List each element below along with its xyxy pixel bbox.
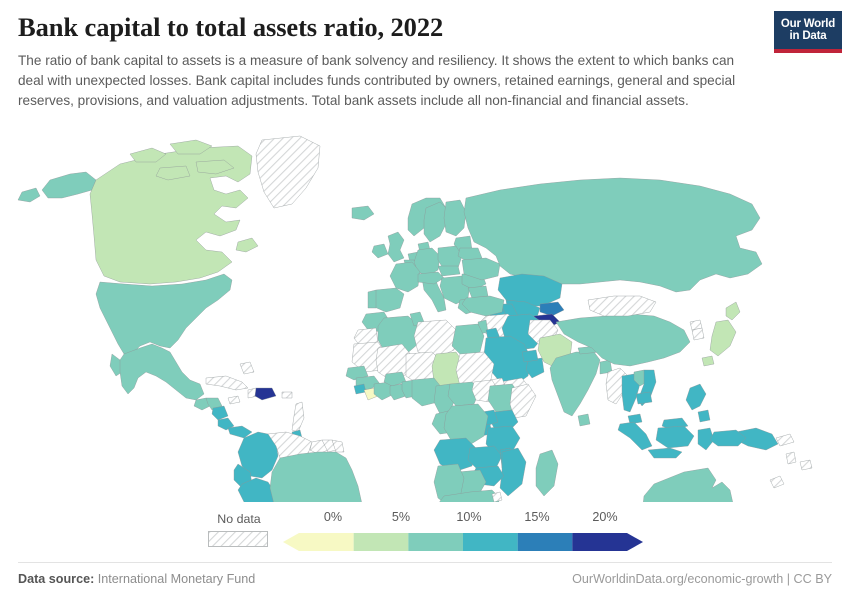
- no-data-hatch-icon: [209, 532, 267, 546]
- country-mozambique[interactable]: [500, 448, 526, 496]
- owid-logo-line2: in Data: [790, 30, 827, 42]
- legend-bin-1[interactable]: [354, 533, 409, 551]
- country-libya[interactable]: [414, 320, 456, 358]
- legend-no-data-label: No data: [208, 513, 270, 525]
- country-lesser-antilles[interactable]: [292, 402, 304, 432]
- legend-bin-2[interactable]: [408, 533, 463, 551]
- country-new-caledonia[interactable]: [770, 476, 784, 488]
- country-vanuatu[interactable]: [786, 452, 796, 464]
- legend-bin-0[interactable]: [283, 533, 354, 551]
- country-borneo[interactable]: [656, 426, 694, 448]
- country-uae-qatar[interactable]: [522, 350, 538, 362]
- country-australia[interactable]: [642, 468, 734, 502]
- legend-no-data-swatch[interactable]: [208, 531, 268, 547]
- country-fiji[interactable]: [800, 460, 812, 470]
- map-legend[interactable]: No data 0% 5% 10% 15% 20%: [0, 505, 850, 555]
- legend-bin-3[interactable]: [463, 533, 518, 551]
- country-greenland[interactable]: [256, 136, 320, 208]
- country-sierra-leone[interactable]: [354, 384, 366, 394]
- chart-footer: Data source: International Monetary Fund…: [18, 562, 832, 586]
- country-cuba[interactable]: [206, 376, 248, 390]
- legend-bin-4[interactable]: [518, 533, 573, 551]
- country-mongolia[interactable]: [588, 296, 656, 316]
- country-bulgaria[interactable]: [468, 286, 488, 298]
- country-somalia[interactable]: [510, 384, 536, 418]
- legend-color-bar[interactable]: [283, 533, 643, 551]
- country-japan[interactable]: [702, 302, 740, 366]
- country-philippines[interactable]: [686, 384, 710, 422]
- legend-no-data-group[interactable]: No data: [208, 513, 270, 547]
- country-united-kingdom[interactable]: [388, 232, 404, 262]
- data-source-label: Data source:: [18, 572, 94, 586]
- country-sri-lanka[interactable]: [578, 414, 590, 426]
- data-source-value: International Monetary Fund: [98, 572, 256, 586]
- country-puerto-rico[interactable]: [282, 392, 292, 398]
- country-canada-newfoundland[interactable]: [236, 238, 258, 252]
- legend-bin-5[interactable]: [572, 533, 643, 551]
- country-mexico[interactable]: [120, 344, 204, 400]
- attribution-link[interactable]: OurWorldinData.org/economic-growth | CC …: [572, 572, 832, 586]
- country-switzerland-austria[interactable]: [418, 272, 444, 284]
- owid-logo[interactable]: Our World in Data: [774, 11, 842, 53]
- country-brazil[interactable]: [270, 452, 362, 502]
- legend-tick-15: 15%: [524, 511, 549, 524]
- country-madagascar[interactable]: [536, 450, 558, 496]
- country-czechia-slovakia[interactable]: [438, 266, 460, 276]
- legend-tick-5: 5%: [392, 511, 410, 524]
- country-alaska[interactable]: [18, 172, 96, 202]
- country-russia[interactable]: [464, 178, 762, 292]
- country-shapes[interactable]: [18, 136, 812, 502]
- country-portugal[interactable]: [368, 290, 376, 308]
- country-bahamas[interactable]: [240, 362, 254, 374]
- country-dominican-republic[interactable]: [255, 388, 276, 400]
- legend-tick-10: 10%: [456, 511, 481, 524]
- country-cambodia[interactable]: [636, 392, 652, 404]
- country-sumatra[interactable]: [618, 422, 652, 450]
- country-india[interactable]: [550, 352, 600, 416]
- legend-tick-20: 20%: [592, 511, 617, 524]
- data-source: Data source: International Monetary Fund: [18, 572, 255, 586]
- country-egypt[interactable]: [452, 324, 484, 356]
- world-map[interactable]: [0, 132, 850, 502]
- legend-bar-svg[interactable]: [283, 533, 643, 551]
- legend-tick-labels: 0% 5% 10% 15% 20%: [283, 511, 643, 527]
- country-nicaragua[interactable]: [212, 406, 228, 420]
- country-south-korea[interactable]: [692, 328, 704, 340]
- legend-tick-0: 0%: [324, 511, 342, 524]
- country-eswatini[interactable]: [492, 492, 502, 502]
- country-united-states[interactable]: [96, 274, 232, 354]
- country-ireland[interactable]: [372, 244, 388, 258]
- page-title: Bank capital to total assets ratio, 2022: [18, 12, 758, 42]
- country-solomon-islands[interactable]: [776, 434, 794, 446]
- country-iceland[interactable]: [352, 206, 374, 220]
- country-finland[interactable]: [444, 200, 466, 236]
- world-map-container[interactable]: [0, 132, 850, 502]
- chart-header: Bank capital to total assets ratio, 2022…: [18, 12, 758, 111]
- country-java[interactable]: [648, 448, 682, 458]
- owid-logo-line1: Our World: [781, 18, 835, 30]
- country-jamaica[interactable]: [228, 396, 240, 404]
- chart-subtitle: The ratio of bank capital to assets is a…: [18, 51, 740, 111]
- country-france[interactable]: [390, 262, 420, 292]
